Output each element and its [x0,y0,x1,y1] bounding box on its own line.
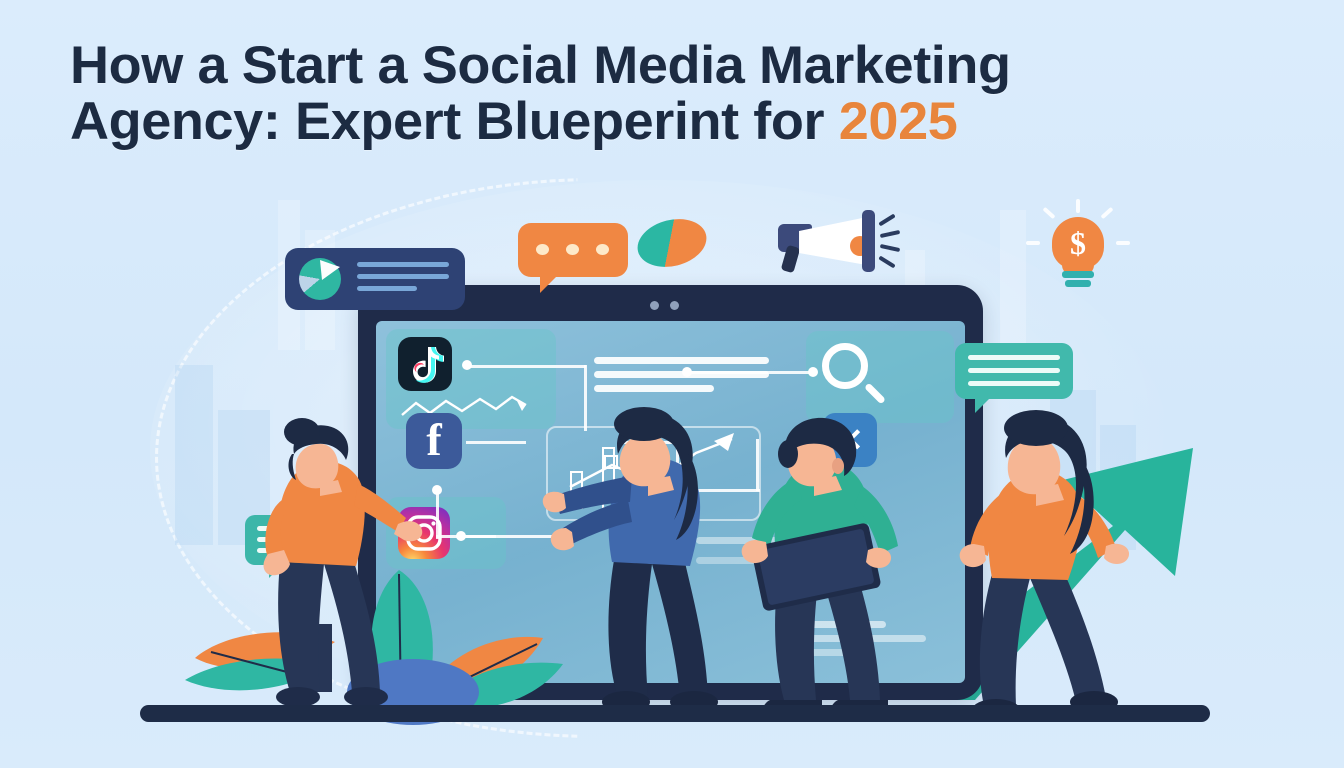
chat-bubble-orange [518,223,628,277]
title-year: 2025 [839,92,958,151]
dollar-sign: $ [1052,217,1104,269]
person-three [718,382,918,714]
title-line-2: Agency: Expert Blueperint for 2025 [70,94,1314,150]
connector-node [432,485,442,495]
card-text-line [357,274,449,279]
card-text-line [357,286,417,291]
bulb-ray [1116,241,1130,245]
typing-dot [536,244,549,255]
typing-dot [566,244,579,255]
bubble-text-line [968,381,1060,386]
ground-bar [140,705,1210,722]
person-four [940,388,1150,718]
bulb-ray [1042,207,1055,219]
megaphone-ray [878,214,895,227]
bulb-ray [1076,199,1080,213]
pie-chart [299,258,341,300]
tiktok-icon[interactable] [398,337,452,391]
bubble-text-line [968,355,1060,360]
person-one [228,392,418,712]
camera-dot [670,301,679,310]
pie-chart-card [285,248,465,310]
placeholder-text-line [594,357,769,364]
building-silhouette [1000,210,1026,350]
bulb-ray [1026,241,1040,245]
connector-line [466,441,526,444]
title-line-2-text: Agency: Expert Blueperint for [70,92,839,151]
bulb-base-ring [1062,271,1094,278]
connector-node [808,367,818,377]
bubble-text-line [968,368,1060,373]
connector-line [436,489,439,539]
title-line-1: How a Start a Social Media Marketing [70,38,1314,94]
connector-node [462,360,472,370]
bulb-ray [1100,207,1113,219]
camera-dot [650,301,659,310]
megaphone-ray [880,230,900,238]
building-silhouette [175,365,213,545]
megaphone-ray [880,244,900,252]
megaphone-icon [778,210,898,280]
bulb-base-ring [1065,280,1091,287]
card-text-line [357,262,449,267]
connector-line [688,371,813,374]
typing-dot [596,244,609,255]
money-lightbulb-icon: $ [1040,215,1116,293]
page-root: How a Start a Social Media Marketing Age… [0,0,1344,768]
megaphone-bar [862,210,875,272]
page-title: How a Start a Social Media Marketing Age… [70,38,1290,150]
connector-line [468,365,586,368]
illustration: f ✕ [0,170,1344,768]
megaphone-ray [878,256,895,269]
